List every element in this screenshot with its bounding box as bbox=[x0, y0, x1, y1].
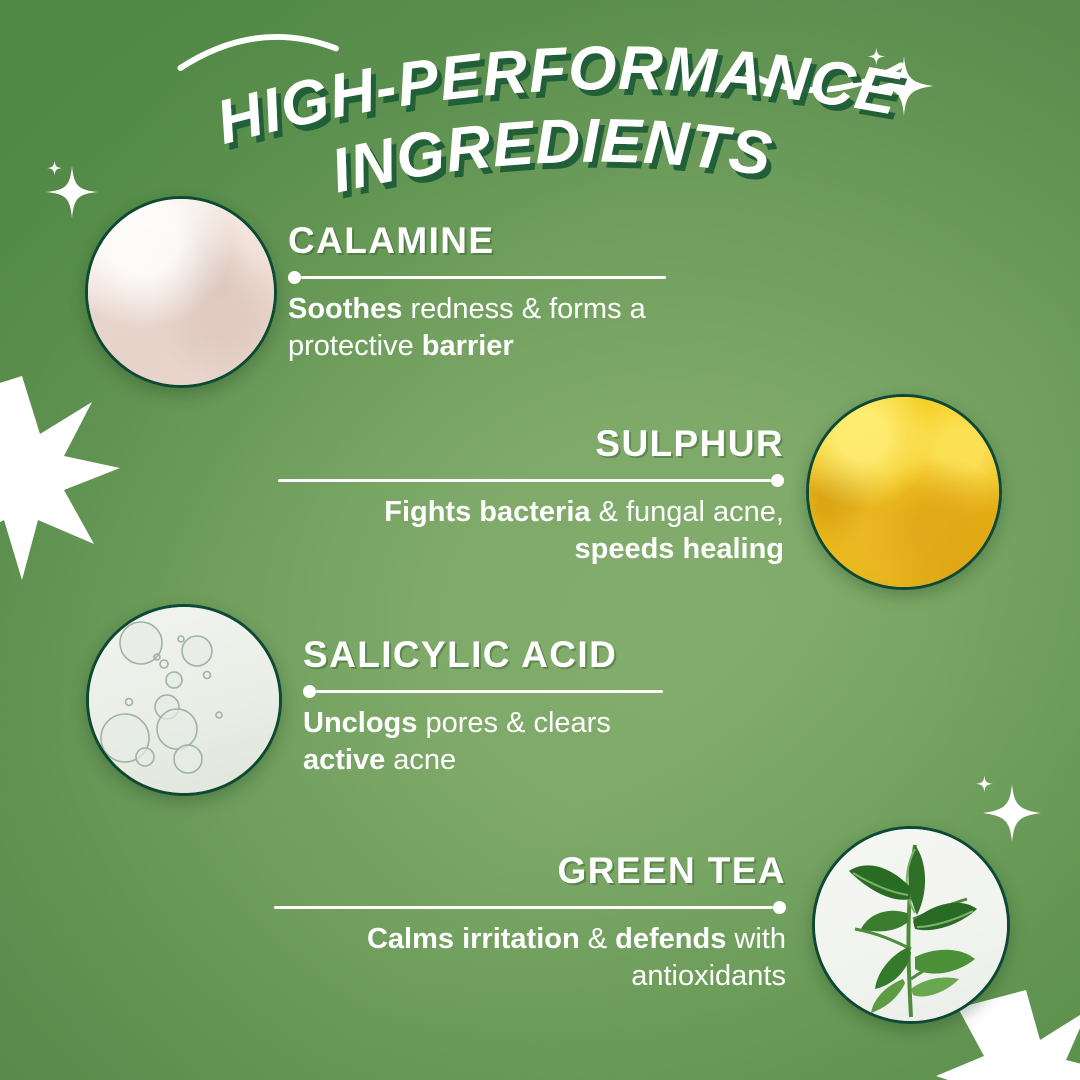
divider-rule-calamine bbox=[288, 270, 666, 284]
rule-bar bbox=[316, 690, 663, 693]
poster-title: HIGH-PERFORMANCE INGREDIENTS bbox=[0, 28, 1080, 198]
calamine-powder-photo bbox=[85, 196, 277, 388]
ingredient-name-green-tea: GREEN TEA bbox=[274, 852, 786, 891]
ingredient-desc-salicylic-acid: Unclogs pores & clears active acne bbox=[303, 705, 663, 779]
divider-rule-sulphur bbox=[278, 473, 784, 487]
salicylic-text-block: SALICYLIC ACID Unclogs pores & clears ac… bbox=[303, 636, 663, 779]
rule-bar bbox=[278, 479, 771, 482]
divider-rule-green-tea bbox=[274, 900, 786, 914]
ingredients-poster: HIGH-PERFORMANCE INGREDIENTS CALAMINE So… bbox=[0, 0, 1080, 1080]
divider-rule-salicylic-acid bbox=[303, 684, 663, 698]
starburst-left-decoration bbox=[0, 372, 122, 584]
rule-bar bbox=[274, 906, 773, 909]
sulphur-image-fill bbox=[809, 397, 999, 587]
green-tea-image-fill bbox=[815, 829, 1007, 1021]
sulphur-powder-photo bbox=[806, 394, 1002, 590]
ingredient-name-salicylic-acid: SALICYLIC ACID bbox=[303, 636, 663, 675]
salicylic-image-fill bbox=[89, 607, 279, 793]
sulphur-text-block: SULPHUR Fights bacteria & fungal acne, s… bbox=[278, 425, 784, 568]
rule-bar bbox=[301, 276, 666, 279]
rule-dot bbox=[288, 271, 301, 284]
green-tea-text-block: GREEN TEA Calms irritation & defends wit… bbox=[274, 852, 786, 995]
ingredient-desc-calamine: Soothes redness & forms a protective bar… bbox=[288, 291, 666, 365]
rule-dot bbox=[303, 685, 316, 698]
ingredient-desc-green-tea: Calms irritation & defends with antioxid… bbox=[274, 921, 786, 995]
ingredient-name-calamine: CALAMINE bbox=[288, 222, 666, 261]
salicylic-acid-gel-photo bbox=[86, 604, 282, 796]
rule-dot bbox=[773, 901, 786, 914]
green-tea-leaves-photo bbox=[812, 826, 1010, 1024]
calamine-image-fill bbox=[88, 199, 274, 385]
rule-dot bbox=[771, 474, 784, 487]
ingredient-desc-sulphur: Fights bacteria & fungal acne, speeds he… bbox=[278, 494, 784, 568]
calamine-text-block: CALAMINE Soothes redness & forms a prote… bbox=[288, 222, 666, 365]
ingredient-name-sulphur: SULPHUR bbox=[278, 425, 784, 464]
